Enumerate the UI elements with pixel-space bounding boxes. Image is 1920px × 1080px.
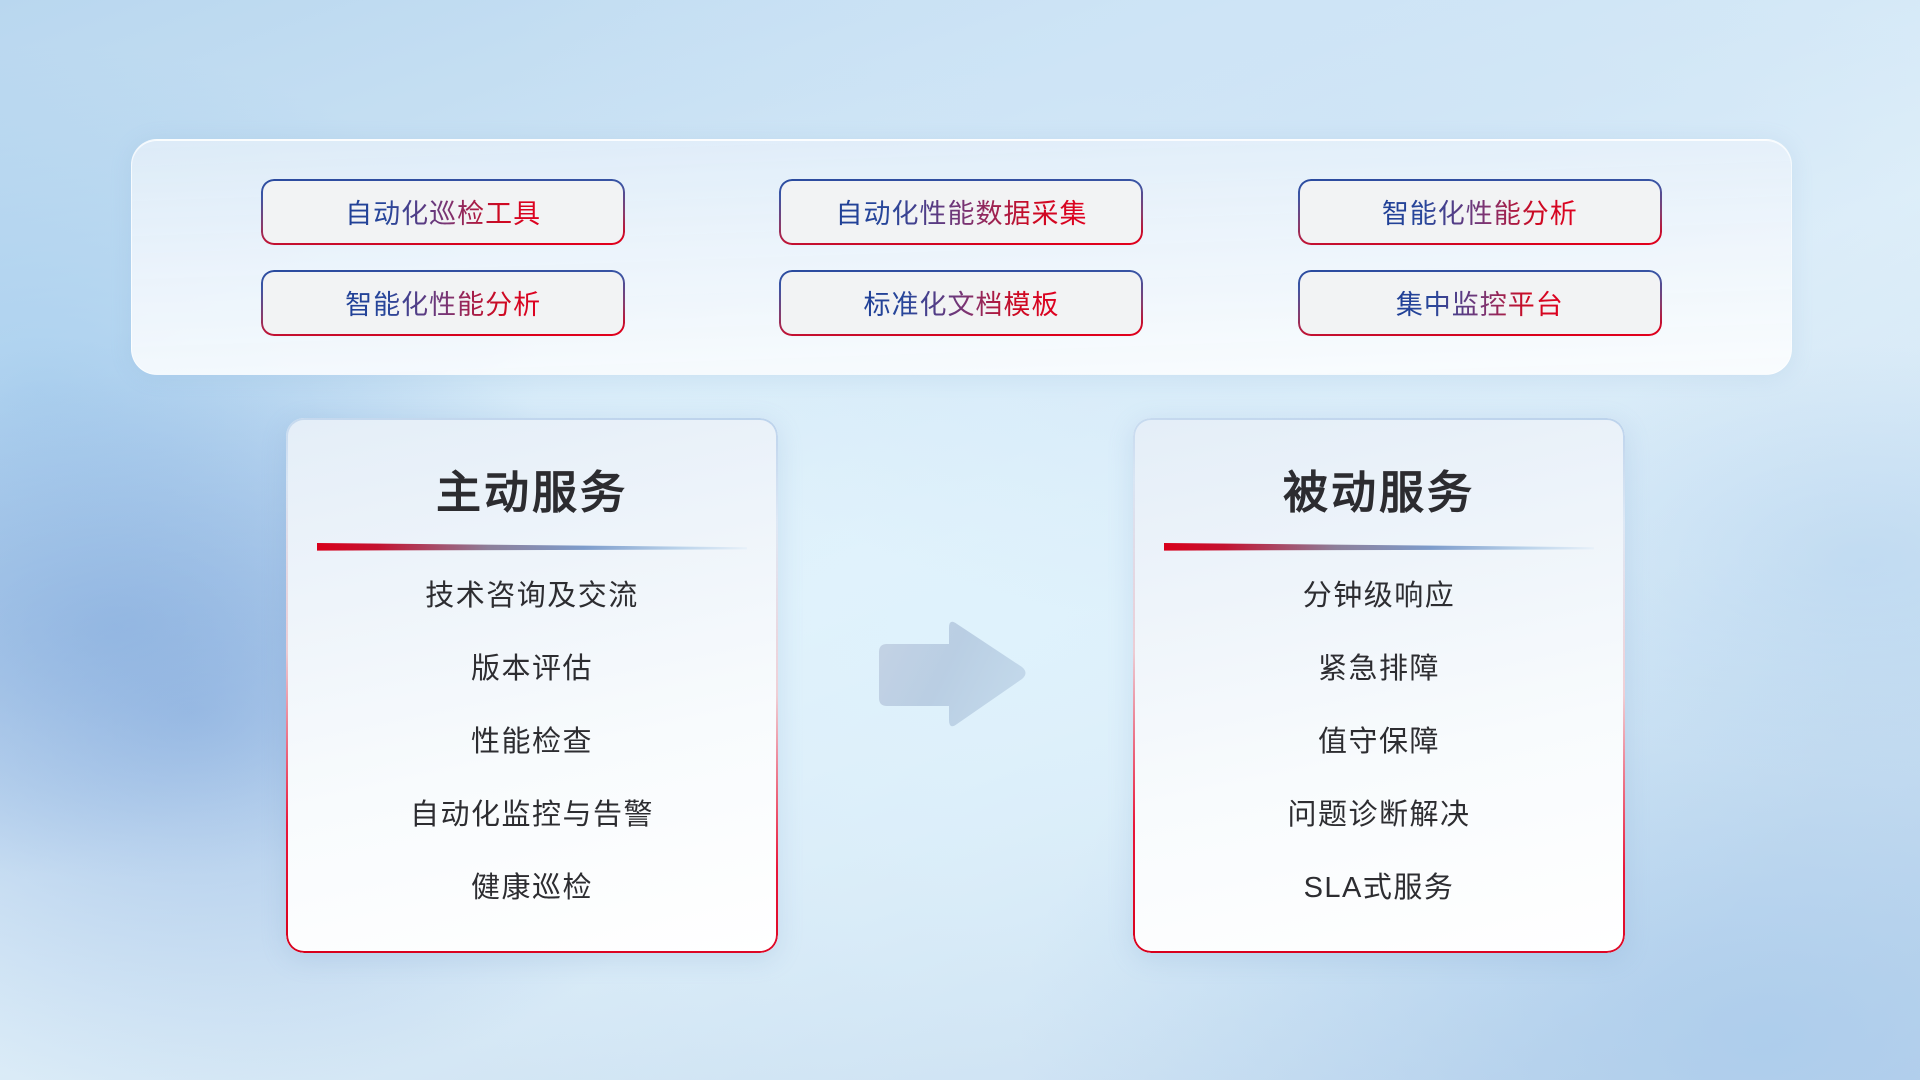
capability-pill-4[interactable]: 智能化性能分析	[263, 272, 623, 334]
capability-pill-label: 集中监控平台	[1396, 283, 1564, 322]
arrow-right-icon	[871, 616, 1031, 734]
passive-service-list: 分钟级响应 紧急排障 值守保障 问题诊断解决 SLA式服务	[1133, 582, 1625, 903]
list-item: 性能检查	[286, 728, 778, 757]
capability-pill-2[interactable]: 自动化性能数据采集	[781, 181, 1141, 243]
passive-service-card[interactable]: 被动服务 分钟级响应 紧急排障 值守保障 问题诊断解决 SLA式服务	[1133, 418, 1625, 953]
capability-pill-label: 标准化文档模板	[863, 283, 1059, 322]
list-item: 技术咨询及交流	[286, 582, 778, 611]
active-service-title: 主动服务	[286, 456, 778, 521]
passive-service-title: 被动服务	[1133, 456, 1625, 521]
title-divider	[317, 542, 747, 551]
list-item: 紧急排障	[1133, 655, 1625, 684]
list-item: 健康巡检	[286, 874, 778, 903]
active-service-card[interactable]: 主动服务 技术咨询及交流 版本评估 性能检查 自动化监控与告警 健康巡检	[286, 418, 778, 953]
capability-panel: 自动化巡检工具 自动化性能数据采集 智能化性能分析 智能化性能分析 标准化文档模…	[131, 139, 1792, 375]
list-item: 问题诊断解决	[1133, 801, 1625, 830]
list-item: 自动化监控与告警	[286, 801, 778, 830]
capability-pill-label: 自动化巡检工具	[345, 192, 541, 231]
list-item: 值守保障	[1133, 728, 1625, 757]
capability-pill-3[interactable]: 智能化性能分析	[1300, 181, 1660, 243]
capability-pill-1[interactable]: 自动化巡检工具	[263, 181, 623, 243]
list-item: 版本评估	[286, 655, 778, 684]
capability-pill-label: 智能化性能分析	[1382, 192, 1578, 231]
capability-pill-6[interactable]: 集中监控平台	[1300, 272, 1660, 334]
capability-pill-5[interactable]: 标准化文档模板	[781, 272, 1141, 334]
title-divider	[1164, 542, 1594, 551]
active-service-list: 技术咨询及交流 版本评估 性能检查 自动化监控与告警 健康巡检	[286, 582, 778, 903]
capability-pill-label: 智能化性能分析	[345, 283, 541, 322]
capability-pill-label: 自动化性能数据采集	[835, 192, 1087, 231]
list-item: 分钟级响应	[1133, 582, 1625, 611]
list-item: SLA式服务	[1133, 874, 1625, 903]
